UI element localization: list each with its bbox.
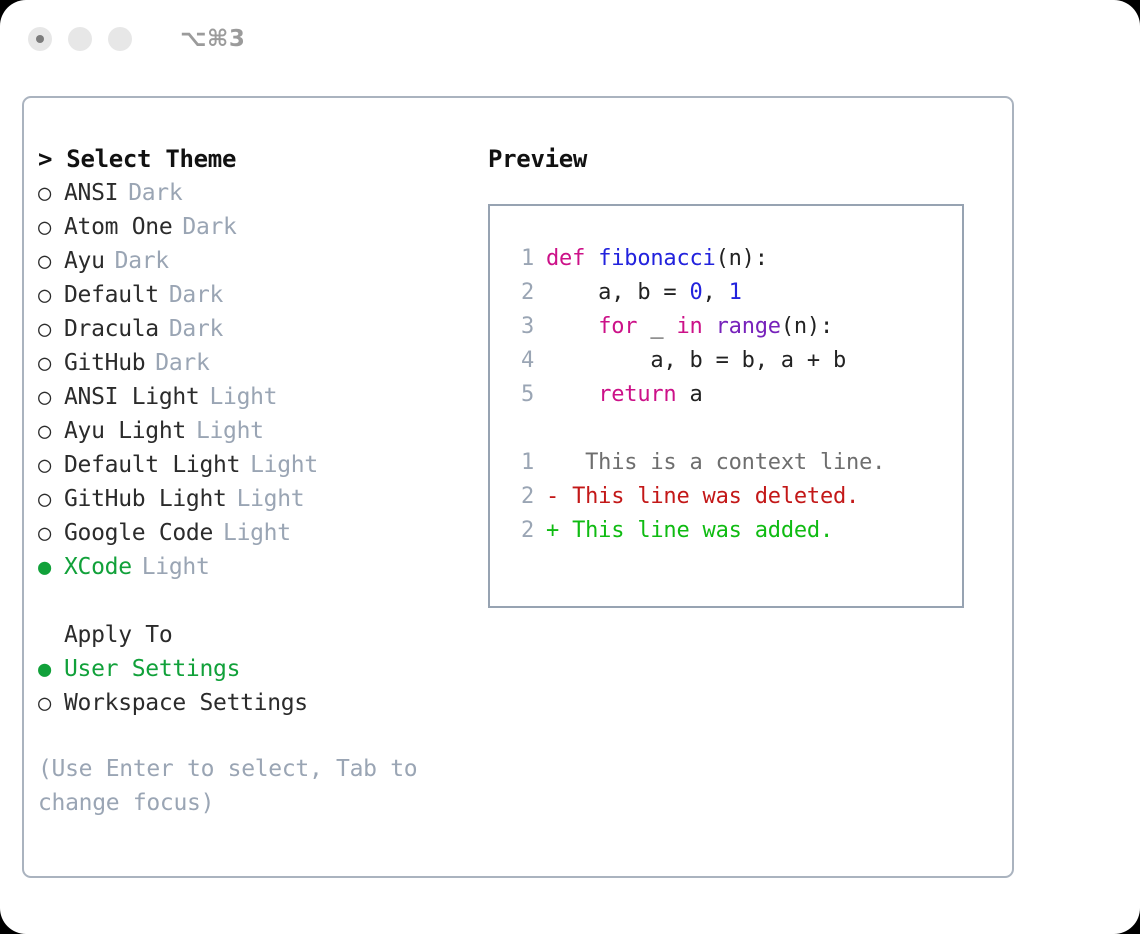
theme-option-github[interactable]: ○GitHubDark [38,346,468,380]
diff-line-number: 1 [504,446,534,480]
diff-line-number: 2 [504,514,534,548]
radio-unselected-icon: ○ [38,483,64,517]
code-line-content: a, b = b, a + b [546,344,846,378]
window-button-close-dot [36,35,44,43]
preview-heading: Preview [488,142,1000,176]
code-token-kw: in [676,314,702,339]
code-line: 1def fibonacci(n): [504,242,962,276]
code-token-pl: , [703,280,729,305]
radio-unselected-icon: ○ [38,347,64,381]
code-token-pl: a [676,382,702,407]
theme-option-atom-one[interactable]: ○Atom OneDark [38,210,468,244]
diff-line-text: This is a context line. [559,446,885,480]
apply-to-heading: Apply To [38,618,468,652]
theme-option-default-light[interactable]: ○Default LightLight [38,448,468,482]
theme-option-ansi[interactable]: ○ANSIDark [38,176,468,210]
code-token-pl [703,314,716,339]
theme-variant-badge: Dark [182,210,236,244]
preview-box: 1def fibonacci(n):2 a, b = 0, 13 for _ i… [488,204,964,608]
code-line: 2 a, b = 0, 1 [504,276,962,310]
keyboard-hint-text: (Use Enter to select, Tab to change focu… [38,752,438,820]
code-line-number: 1 [504,242,534,276]
code-line-content: return a [546,378,703,412]
theme-option-label: XCode [64,550,132,584]
code-token-pl [546,382,598,407]
code-token-pl: (n): [716,246,768,271]
window-button-close[interactable] [28,27,52,51]
code-token-pl: a, b = b, a + b [546,348,846,373]
window-button-maximize[interactable] [108,27,132,51]
diff-line-added: 2+ This line was added. [504,514,962,548]
code-sample: 1def fibonacci(n):2 a, b = 0, 13 for _ i… [504,242,962,412]
hint-spacer [38,720,468,752]
code-token-kw: for [598,314,637,339]
app-window: ⌥⌘3 > Select Theme ○ANSIDark○Atom OneDar… [0,0,1140,934]
theme-option-label: Default [64,278,159,312]
theme-variant-badge: Light [209,380,277,414]
radio-unselected-icon: ○ [38,245,64,279]
theme-option-default[interactable]: ○DefaultDark [38,278,468,312]
diff-line-deleted: 2- This line was deleted. [504,480,962,514]
theme-option-label: Default Light [64,448,240,482]
theme-variant-badge: Dark [115,244,169,278]
code-line-number: 4 [504,344,534,378]
code-line: 4 a, b = b, a + b [504,344,962,378]
radio-unselected-icon: ○ [38,381,64,415]
theme-option-label: ANSI [64,176,118,210]
select-theme-heading: > Select Theme [38,142,468,176]
theme-variant-badge: Dark [169,312,223,346]
code-line-content: def fibonacci(n): [546,242,768,276]
theme-list-column: > Select Theme ○ANSIDark○Atom OneDark○Ay… [38,142,468,820]
radio-unselected-icon: ○ [38,415,64,449]
code-token-num: 0 [690,280,703,305]
code-line-content: a, b = 0, 1 [546,276,742,310]
radio-selected-icon: ● [38,653,64,687]
title-bar: ⌥⌘3 [0,0,1140,78]
theme-variant-badge: Light [250,448,318,482]
keyboard-shortcut-label: ⌥⌘3 [180,26,245,52]
code-token-pl: _ [637,314,676,339]
radio-unselected-icon: ○ [38,211,64,245]
diff-line-text: This line was deleted. [559,480,859,514]
theme-option-label: Google Code [64,516,213,550]
theme-option-ayu[interactable]: ○AyuDark [38,244,468,278]
radio-unselected-icon: ○ [38,687,64,721]
code-token-pl [546,314,598,339]
theme-option-label: ANSI Light [64,380,199,414]
radio-unselected-icon: ○ [38,449,64,483]
window-button-minimize[interactable] [68,27,92,51]
theme-variant-badge: Light [196,414,264,448]
theme-list: ○ANSIDark○Atom OneDark○AyuDark○DefaultDa… [38,176,468,584]
radio-selected-icon: ● [38,551,64,585]
theme-variant-badge: Dark [128,176,182,210]
code-token-bi: range [716,314,781,339]
code-line: 5 return a [504,378,962,412]
radio-unselected-icon: ○ [38,177,64,211]
diff-line-number: 2 [504,480,534,514]
theme-variant-badge: Dark [155,346,209,380]
theme-option-label: Ayu [64,244,105,278]
radio-unselected-icon: ○ [38,313,64,347]
preview-column: Preview 1def fibonacci(n):2 a, b = 0, 13… [488,142,1000,608]
code-line: 3 for _ in range(n): [504,310,962,344]
apply-to-option-user-settings[interactable]: ●User Settings [38,652,468,686]
diff-line-sign [546,446,559,480]
theme-variant-badge: Light [237,482,305,516]
code-token-pl: a, b = [546,280,690,305]
theme-option-ansi-light[interactable]: ○ANSI LightLight [38,380,468,414]
radio-unselected-icon: ○ [38,517,64,551]
code-token-fn: fibonacci [598,246,715,271]
apply-to-option-label: Workspace Settings [64,686,308,720]
radio-unselected-icon: ○ [38,279,64,313]
theme-option-label: Atom One [64,210,172,244]
diff-line-text: This line was added. [559,514,833,548]
theme-option-label: Ayu Light [64,414,186,448]
code-token-kw: def [546,246,598,271]
theme-variant-badge: Light [223,516,291,550]
code-token-num: 1 [729,280,742,305]
theme-option-github-light[interactable]: ○GitHub LightLight [38,482,468,516]
apply-to-list: ●User Settings○Workspace Settings [38,652,468,720]
diff-line-sign: - [546,480,559,514]
theme-option-label: Dracula [64,312,159,346]
diff-line-context: 1 This is a context line. [504,446,962,480]
diff-sample: 1 This is a context line.2- This line wa… [504,446,962,548]
code-line-number: 5 [504,378,534,412]
theme-option-label: GitHub [64,346,145,380]
code-diff-spacer [504,412,962,446]
theme-variant-badge: Dark [169,278,223,312]
section-spacer [38,584,468,618]
theme-option-google-code[interactable]: ○Google CodeLight [38,516,468,550]
code-line-number: 2 [504,276,534,310]
code-line-content: for _ in range(n): [546,310,833,344]
theme-option-xcode[interactable]: ●XCodeLight [38,550,468,584]
theme-variant-badge: Light [142,550,210,584]
theme-option-dracula[interactable]: ○DraculaDark [38,312,468,346]
apply-to-option-workspace-settings[interactable]: ○Workspace Settings [38,686,468,720]
code-token-pl: (n): [781,314,833,339]
code-token-kw: return [598,382,676,407]
apply-to-option-label: User Settings [64,652,240,686]
code-line-number: 3 [504,310,534,344]
theme-option-label: GitHub Light [64,482,227,516]
theme-option-ayu-light[interactable]: ○Ayu LightLight [38,414,468,448]
theme-selector-panel: > Select Theme ○ANSIDark○Atom OneDark○Ay… [22,96,1014,878]
diff-line-sign: + [546,514,559,548]
